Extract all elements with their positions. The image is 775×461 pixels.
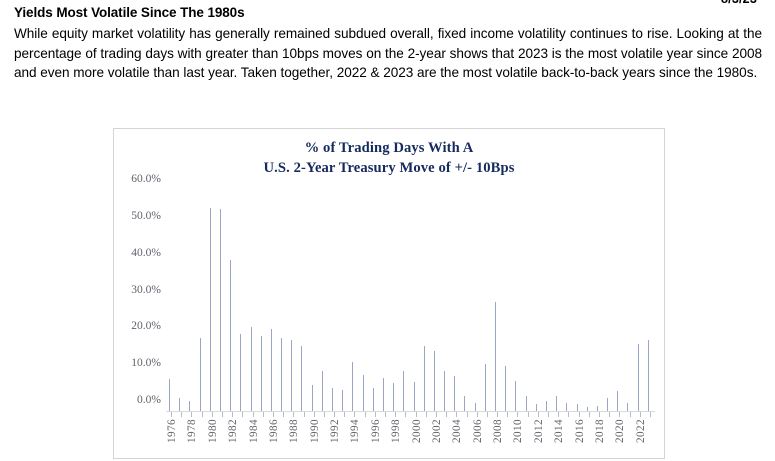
chart-title-line-2: U.S. 2-Year Treasury Move of +/- 10Bps xyxy=(114,158,664,178)
bar xyxy=(230,260,231,411)
bar-slot xyxy=(309,191,319,411)
bar xyxy=(475,403,476,411)
bar xyxy=(577,404,578,411)
x-axis-tick-label: 1982 xyxy=(227,419,239,443)
bar-slot xyxy=(523,191,533,411)
x-axis-tick-mark xyxy=(181,412,182,417)
x-axis-tick-mark xyxy=(630,412,631,417)
x-axis-tick-mark xyxy=(650,412,651,417)
bar xyxy=(251,327,252,411)
x-axis-tick-mark xyxy=(202,412,203,417)
bar-slot xyxy=(288,191,298,411)
page-title: Yields Most Volatile Since The 1980s xyxy=(14,5,245,20)
bar-slot xyxy=(594,191,604,411)
x-axis-tick-label: 2004 xyxy=(451,419,463,443)
x-axis-tick-label: 1988 xyxy=(288,419,300,443)
bar xyxy=(301,346,302,411)
bar-slot xyxy=(227,191,237,411)
bar xyxy=(648,340,649,411)
bar-series xyxy=(166,191,655,411)
body-paragraph: While equity market volatility has gener… xyxy=(14,24,762,83)
bar-slot xyxy=(207,191,217,411)
x-axis-tick-mark xyxy=(487,412,488,417)
x-axis-tick-label: 1998 xyxy=(390,419,402,443)
bar xyxy=(638,344,639,411)
bar-slot xyxy=(421,191,431,411)
bar xyxy=(312,385,313,411)
bar xyxy=(566,403,567,411)
bar xyxy=(546,401,547,411)
bar-slot xyxy=(258,191,268,411)
bar xyxy=(607,398,608,411)
bar-slot xyxy=(431,191,441,411)
bar xyxy=(434,351,435,411)
bar-slot xyxy=(380,191,390,411)
bar xyxy=(363,375,364,411)
bar xyxy=(464,396,465,411)
bar-slot xyxy=(461,191,471,411)
y-axis-tick-label: 60.0% xyxy=(131,173,161,185)
x-axis-tick-mark xyxy=(283,412,284,417)
bar-slot xyxy=(635,191,645,411)
y-axis-tick-label: 40.0% xyxy=(131,247,161,259)
bar xyxy=(454,376,455,411)
bar xyxy=(271,329,272,412)
x-axis-tick-mark xyxy=(467,412,468,417)
bar-slot xyxy=(533,191,543,411)
x-axis-tick-label: 2022 xyxy=(635,419,647,443)
x-axis-tick-mark xyxy=(314,412,315,417)
bar-slot xyxy=(563,191,573,411)
x-axis-tick-label: 2000 xyxy=(411,419,423,443)
bar xyxy=(393,383,394,411)
bar-slot xyxy=(502,191,512,411)
x-axis-tick-mark xyxy=(446,412,447,417)
x-axis-tick-label: 2018 xyxy=(594,419,606,443)
x-axis-tick-mark xyxy=(171,412,172,417)
bar-slot xyxy=(604,191,614,411)
x-axis-tick-mark xyxy=(334,412,335,417)
x-axis-tick-mark xyxy=(242,412,243,417)
plot-inner: 0.0%10.0%20.0%30.0%40.0%50.0%60.0% xyxy=(166,191,655,412)
x-axis-tick-mark xyxy=(619,412,620,417)
bar xyxy=(444,371,445,411)
x-axis-tick-label: 1986 xyxy=(268,419,280,443)
x-axis-tick-mark xyxy=(416,412,417,417)
bar-slot xyxy=(360,191,370,411)
x-axis-tick-label: 1978 xyxy=(186,419,198,443)
bar-slot xyxy=(553,191,563,411)
x-axis-tick-mark xyxy=(405,412,406,417)
bar-slot xyxy=(166,191,176,411)
x-axis-tick-mark xyxy=(426,412,427,417)
x-axis-tick-label: 2014 xyxy=(553,419,565,443)
bar-slot xyxy=(370,191,380,411)
bar-slot xyxy=(339,191,349,411)
bar-slot xyxy=(451,191,461,411)
x-axis-tick-mark xyxy=(558,412,559,417)
chart-container: % of Trading Days With A U.S. 2-Year Tre… xyxy=(113,128,665,459)
bar xyxy=(179,398,180,411)
bar xyxy=(261,336,262,411)
x-axis-tick-label: 1994 xyxy=(349,419,361,443)
bar-slot xyxy=(278,191,288,411)
x-axis-tick-mark xyxy=(222,412,223,417)
x-axis-tick-mark xyxy=(477,412,478,417)
y-axis-tick-label: 0.0% xyxy=(137,394,161,406)
x-axis-tick-label: 1984 xyxy=(248,419,260,443)
x-axis-tick-mark xyxy=(232,412,233,417)
bar xyxy=(291,340,292,411)
bar-slot xyxy=(574,191,584,411)
plot-area: 0.0%10.0%20.0%30.0%40.0%50.0%60.0% xyxy=(166,191,655,412)
y-axis-tick-label: 20.0% xyxy=(131,320,161,332)
x-axis-tick-mark xyxy=(385,412,386,417)
bar xyxy=(332,388,333,411)
x-axis-ticks: 1976197819801982198419861988199019921994… xyxy=(166,412,655,420)
x-axis-tick-label: 1996 xyxy=(370,419,382,443)
bar xyxy=(403,371,404,411)
bar-slot xyxy=(482,191,492,411)
x-axis-tick-label: 2006 xyxy=(472,419,484,443)
x-axis-tick-mark xyxy=(528,412,529,417)
bar-slot xyxy=(349,191,359,411)
x-axis-tick-label: 1976 xyxy=(166,419,178,443)
bar xyxy=(526,396,527,411)
x-axis-tick-mark xyxy=(354,412,355,417)
bar-slot xyxy=(186,191,196,411)
x-axis-tick-mark xyxy=(273,412,274,417)
x-axis-tick-label: 2020 xyxy=(614,419,626,443)
x-axis-tick-mark xyxy=(538,412,539,417)
x-axis-tick-label: 2012 xyxy=(533,419,545,443)
bar-slot xyxy=(400,191,410,411)
bar xyxy=(200,338,201,411)
x-axis-tick-mark xyxy=(507,412,508,417)
bar xyxy=(414,382,415,411)
bar xyxy=(617,391,618,411)
bar xyxy=(383,378,384,411)
bar xyxy=(515,381,516,411)
x-axis-tick-label: 2016 xyxy=(574,419,586,443)
x-axis-tick-label: 1990 xyxy=(309,419,321,443)
x-axis-tick-label: 2002 xyxy=(431,419,443,443)
bar-slot xyxy=(390,191,400,411)
bar xyxy=(240,334,241,411)
bar-slot xyxy=(472,191,482,411)
bar xyxy=(505,366,506,411)
bar xyxy=(373,388,374,411)
x-axis-tick-mark xyxy=(517,412,518,417)
bar-slot xyxy=(298,191,308,411)
bar-slot xyxy=(247,191,257,411)
bar-slot xyxy=(237,191,247,411)
bar-slot xyxy=(329,191,339,411)
y-axis-tick-label: 30.0% xyxy=(131,284,161,296)
x-axis-tick-mark xyxy=(599,412,600,417)
x-axis-tick-label: 2008 xyxy=(492,419,504,443)
bar xyxy=(210,208,211,411)
x-axis-tick-mark xyxy=(436,412,437,417)
x-axis-tick-mark xyxy=(212,412,213,417)
bar-slot xyxy=(492,191,502,411)
bar xyxy=(189,401,190,411)
x-axis-tick-mark xyxy=(344,412,345,417)
bar xyxy=(424,346,425,411)
bar-slot xyxy=(176,191,186,411)
x-axis-tick-mark xyxy=(263,412,264,417)
x-axis-tick-mark xyxy=(589,412,590,417)
x-axis-tick-mark xyxy=(497,412,498,417)
bar xyxy=(169,379,170,411)
x-axis-tick-mark xyxy=(456,412,457,417)
bar xyxy=(342,390,343,411)
bar-slot xyxy=(624,191,634,411)
x-axis-tick-mark xyxy=(548,412,549,417)
bar xyxy=(322,371,323,411)
x-axis-tick-mark xyxy=(304,412,305,417)
bar xyxy=(627,403,628,411)
chart-title: % of Trading Days With A U.S. 2-Year Tre… xyxy=(114,138,664,178)
bar-slot xyxy=(584,191,594,411)
x-axis-tick-mark xyxy=(609,412,610,417)
bar-slot xyxy=(411,191,421,411)
bar xyxy=(220,209,221,411)
x-axis-tick-mark xyxy=(395,412,396,417)
bar-slot xyxy=(645,191,655,411)
bar xyxy=(556,396,557,411)
bar-slot xyxy=(217,191,227,411)
y-axis-tick-label: 10.0% xyxy=(131,357,161,369)
x-axis-tick-label: 2010 xyxy=(512,419,524,443)
x-axis-tick-mark xyxy=(375,412,376,417)
bar xyxy=(352,362,353,412)
bar xyxy=(281,338,282,411)
x-axis-tick-mark xyxy=(191,412,192,417)
x-axis-tick-mark xyxy=(293,412,294,417)
x-axis-tick-mark xyxy=(568,412,569,417)
bar-slot xyxy=(197,191,207,411)
x-axis-tick-mark xyxy=(640,412,641,417)
x-axis-tick-mark xyxy=(324,412,325,417)
bar-slot xyxy=(441,191,451,411)
bar xyxy=(536,404,537,411)
document-date-stamp: 8/3/23 xyxy=(721,0,757,6)
bar-slot xyxy=(614,191,624,411)
x-axis-tick-mark xyxy=(253,412,254,417)
x-axis-tick-label: 1992 xyxy=(329,419,341,443)
x-axis-tick-mark xyxy=(365,412,366,417)
bar-slot xyxy=(319,191,329,411)
chart-title-line-1: % of Trading Days With A xyxy=(305,140,474,156)
bar-slot xyxy=(268,191,278,411)
bar-slot xyxy=(512,191,522,411)
bar xyxy=(485,364,486,411)
x-axis-tick-mark xyxy=(579,412,580,417)
x-axis-tick-label: 1980 xyxy=(207,419,219,443)
bar-slot xyxy=(543,191,553,411)
y-axis-tick-label: 50.0% xyxy=(131,210,161,222)
bar xyxy=(495,302,496,411)
